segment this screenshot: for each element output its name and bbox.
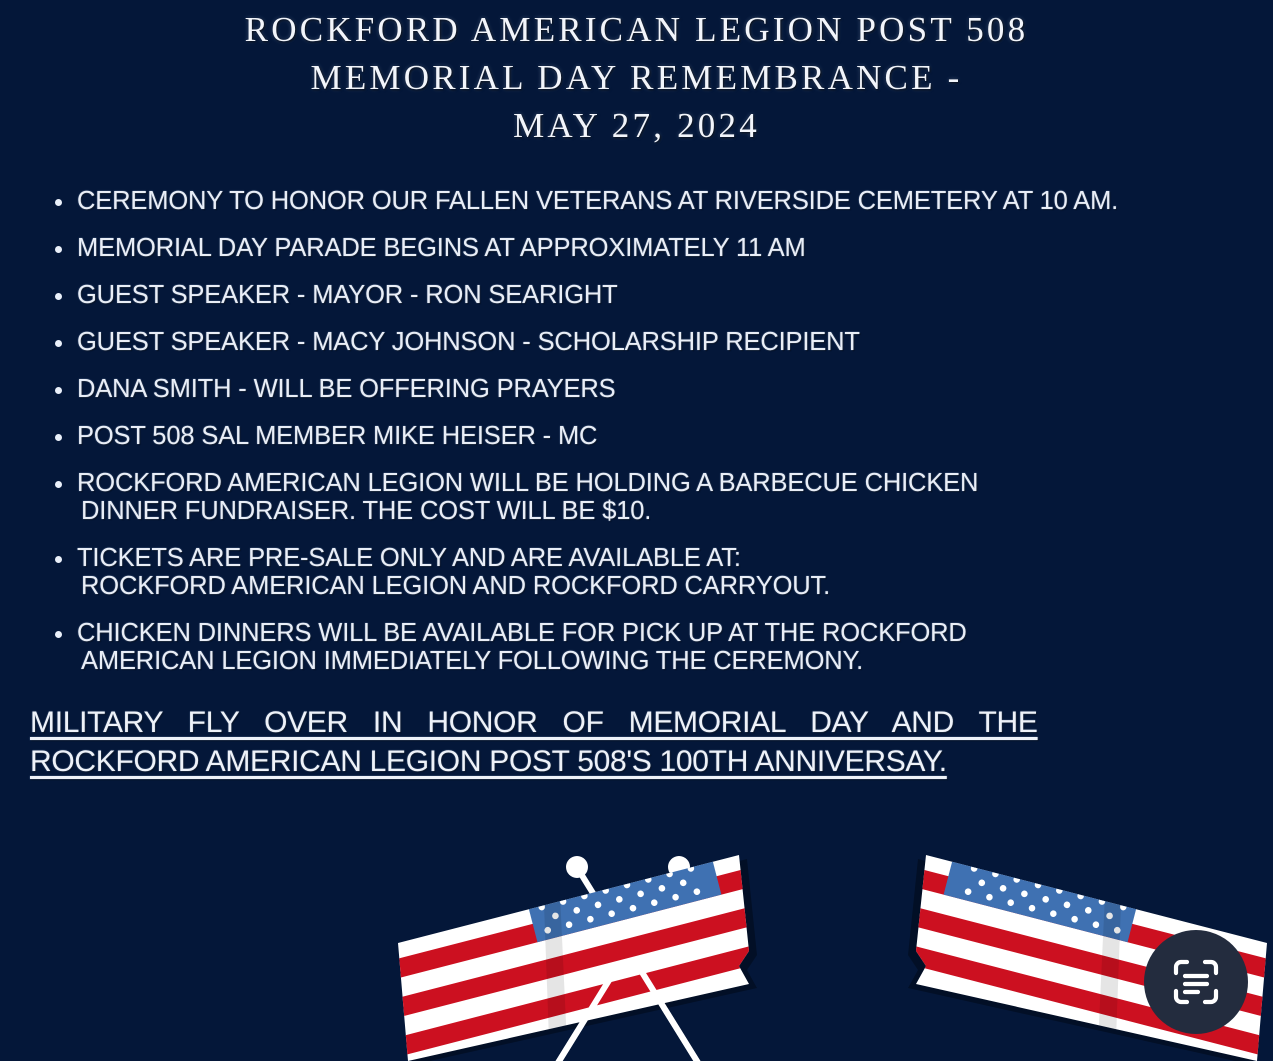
title-line-3: MAY 27, 2024 (0, 102, 1273, 150)
list-item-line-1: DANA SMITH - WILL BE OFFERING PRAYERS (77, 375, 616, 403)
list-item-line-2: ROCKFORD AMERICAN LEGION AND ROCKFORD CA… (77, 573, 1273, 600)
event-details-list: CEREMONY TO HONOR OUR FALLEN VETERANS AT… (0, 188, 1273, 675)
crossed-flags-icon (0, 851, 1273, 1061)
page-title: ROCKFORD AMERICAN LEGION POST 508 MEMORI… (0, 0, 1273, 150)
list-item-line-1: TICKETS ARE PRE-SALE ONLY AND ARE AVAILA… (77, 544, 741, 572)
list-item-line-1: CEREMONY TO HONOR OUR FALLEN VETERANS AT… (77, 187, 1118, 215)
scan-text-fab-button[interactable] (1144, 930, 1248, 1034)
list-item-line-2: DINNER FUNDRAISER. THE COST WILL BE $10. (77, 498, 1273, 525)
list-item-line-1: GUEST SPEAKER - MACY JOHNSON - SCHOLARSH… (77, 328, 860, 356)
list-item: GUEST SPEAKER - MACY JOHNSON - SCHOLARSH… (48, 329, 1273, 356)
list-item: CEREMONY TO HONOR OUR FALLEN VETERANS AT… (48, 188, 1273, 215)
list-item: MEMORIAL DAY PARADE BEGINS AT APPROXIMAT… (48, 235, 1273, 262)
list-item-line-1: POST 508 SAL MEMBER MIKE HEISER - MC (77, 422, 597, 450)
list-item-line-1: CHICKEN DINNERS WILL BE AVAILABLE FOR PI… (77, 619, 967, 647)
flyover-line-1: MILITARY FLY OVER IN HONOR OF MEMORIAL D… (30, 703, 1245, 742)
list-item-line-1: MEMORIAL DAY PARADE BEGINS AT APPROXIMAT… (77, 234, 806, 262)
crossed-american-flags-graphic (0, 851, 1273, 1061)
list-item-line-1: GUEST SPEAKER - MAYOR - RON SEARIGHT (77, 281, 618, 309)
list-item: GUEST SPEAKER - MAYOR - RON SEARIGHT (48, 282, 1273, 309)
flyover-announcement: MILITARY FLY OVER IN HONOR OF MEMORIAL D… (0, 703, 1273, 781)
left-american-flag (252, 851, 933, 1061)
list-item: POST 508 SAL MEMBER MIKE HEISER - MC (48, 423, 1273, 450)
list-item: DANA SMITH - WILL BE OFFERING PRAYERS (48, 376, 1273, 403)
list-item: TICKETS ARE PRE-SALE ONLY AND ARE AVAILA… (48, 545, 1273, 600)
title-line-2: MEMORIAL DAY REMEMBRANCE - (0, 54, 1273, 102)
scan-text-icon (1170, 956, 1222, 1008)
list-item: ROCKFORD AMERICAN LEGION WILL BE HOLDING… (48, 470, 1273, 525)
list-item: CHICKEN DINNERS WILL BE AVAILABLE FOR PI… (48, 620, 1273, 675)
list-item-line-1: ROCKFORD AMERICAN LEGION WILL BE HOLDING… (77, 469, 978, 497)
list-item-line-2: AMERICAN LEGION IMMEDIATELY FOLLOWING TH… (77, 648, 1273, 675)
memorial-day-flyer: ROCKFORD AMERICAN LEGION POST 508 MEMORI… (0, 0, 1273, 1061)
title-line-1: ROCKFORD AMERICAN LEGION POST 508 (0, 6, 1273, 54)
flyover-line-2: ROCKFORD AMERICAN LEGION POST 508'S 100T… (30, 742, 1245, 781)
